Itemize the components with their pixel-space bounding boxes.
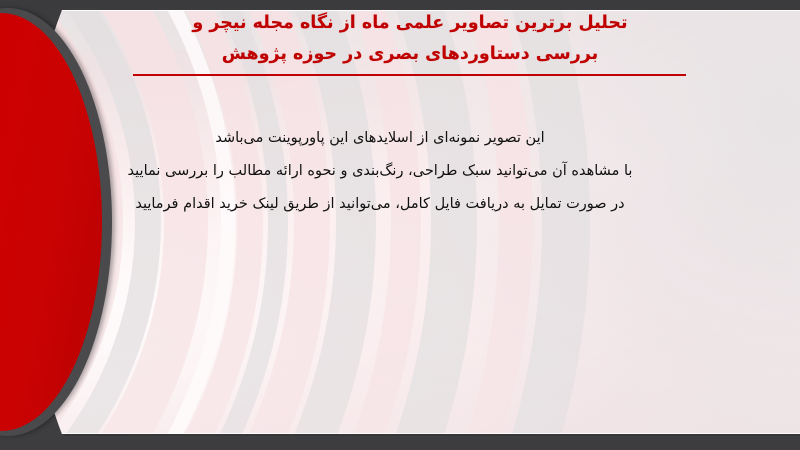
slide-title: تحلیل برترین تصاویر علمی ماه از نگاه مجل… <box>110 8 710 70</box>
slide-body-line-3: در صورت تمایل به دریافت فایل کامل، می‌تو… <box>90 188 670 221</box>
slide-body: این تصویر نمونه‌ای از اسلایدهای این پاور… <box>90 122 670 221</box>
slide-title-line-2: بررسی دستاوردهای بصری در حوزه پژوهش <box>110 39 710 70</box>
slide-body-line-1: این تصویر نمونه‌ای از اسلایدهای این پاور… <box>90 122 670 155</box>
slide-title-line-1: تحلیل برترین تصاویر علمی ماه از نگاه مجل… <box>110 8 710 39</box>
slide-body-line-2: با مشاهده آن می‌توانید سبک طراحی، رنگ‌بن… <box>90 155 670 188</box>
title-underline <box>133 74 686 76</box>
presentation-slide: تحلیل برترین تصاویر علمی ماه از نگاه مجل… <box>0 0 800 450</box>
